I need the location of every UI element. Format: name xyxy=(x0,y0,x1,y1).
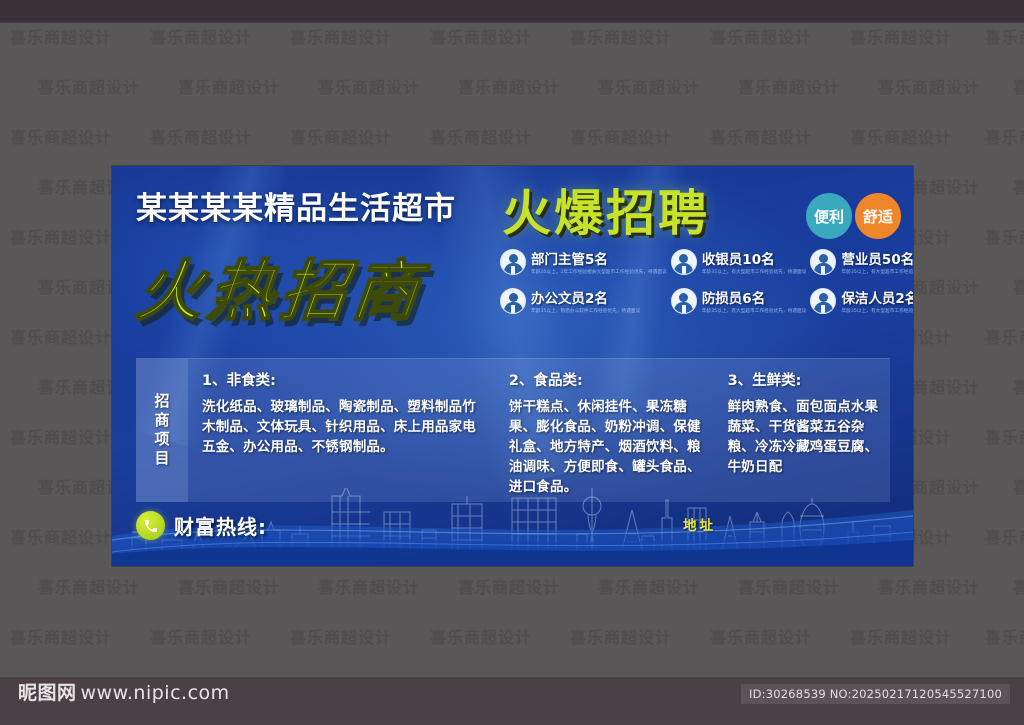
top-chrome-bar xyxy=(0,0,1024,23)
watermark-text: 喜乐商超设计 xyxy=(430,124,532,148)
watermark-text: 喜乐商超设计 xyxy=(178,574,280,598)
watermark-text: 喜乐商超设计 xyxy=(1013,174,1024,198)
job-title: 营业员50名 xyxy=(841,248,913,268)
watermark-text: 喜乐商超设计 xyxy=(458,74,560,98)
watermark-text: 喜乐商超设计 xyxy=(430,24,532,48)
watermark-text: 喜乐商超设计 xyxy=(1013,474,1024,498)
job-requirement: 年龄35以上，熟悉办公软件工作经验优先，待遇面议 xyxy=(531,308,640,314)
hotline-label: 财富热线: xyxy=(174,511,267,540)
job-requirement: 年龄35以上，有大型超市工作经验优先，待遇面议 xyxy=(841,269,913,275)
shop-name-title: 某某某某精品生活超市 xyxy=(136,183,456,228)
watermark-text: 喜乐商超设计 xyxy=(985,424,1024,448)
watermark-text: 喜乐商超设计 xyxy=(710,24,812,48)
job-title: 收银员10名 xyxy=(702,248,807,268)
watermark-text: 喜乐商超设计 xyxy=(38,74,140,98)
job-item: 部门主管5名 年龄35以上，2年工作经验相关大型超市工作经验优先，待遇面议 xyxy=(500,248,667,275)
watermark-text: 喜乐商超设计 xyxy=(878,74,980,98)
site-brand-url: www.nipic.com xyxy=(81,682,230,704)
watermark-text: 喜乐商超设计 xyxy=(1013,574,1024,598)
watermark-text: 喜乐商超设计 xyxy=(985,124,1024,148)
watermark-text: 喜乐商超设计 xyxy=(318,74,420,98)
category-body: 鲜肉熟食、面包面点水果蔬菜、干货酱菜五谷杂粮、冷冻冷藏鸡蛋豆腐、牛奶日配 xyxy=(728,398,882,478)
asset-id-badge: ID:30268539 NO:20250217120545527100 xyxy=(741,684,1010,704)
watermark-text: 喜乐商超设计 xyxy=(878,574,980,598)
categories-panel: 招商项目 1、非食类: 洗化纸品、玻璃制品、陶瓷制品、塑料制品竹木制品、文体玩具… xyxy=(136,358,890,502)
job-requirement: 年龄35以上，2年工作经验相关大型超市工作经验优先，待遇面议 xyxy=(531,269,667,275)
watermark-text: 喜乐商超设计 xyxy=(570,124,672,148)
watermark-text: 喜乐商超设计 xyxy=(570,624,672,648)
watermark-text: 喜乐商超设计 xyxy=(710,624,812,648)
watermark-text: 喜乐商超设计 xyxy=(38,574,140,598)
poster-canvas: 某某某某精品生活超市 火爆招聘 便利 舒适 火热招商 部门主管5名 年龄35以上… xyxy=(112,166,913,566)
watermark-text: 喜乐商超设计 xyxy=(10,524,112,548)
category-column-nonfood: 1、非食类: 洗化纸品、玻璃制品、陶瓷制品、塑料制品竹木制品、文体玩具、针织用品… xyxy=(188,359,495,502)
watermark-text: 喜乐商超设计 xyxy=(290,124,392,148)
watermark-text: 喜乐商超设计 xyxy=(150,124,252,148)
job-item: 营业员50名 年龄35以上，有大型超市工作经验优先，待遇面议 xyxy=(810,248,913,275)
watermark-text: 喜乐商超设计 xyxy=(10,24,112,48)
category-body: 洗化纸品、玻璃制品、陶瓷制品、塑料制品竹木制品、文体玩具、针织用品、床上用品家电… xyxy=(202,398,487,458)
art-headline-zhaoshang: 火热招商 xyxy=(132,238,430,334)
watermark-text: 喜乐商超设计 xyxy=(458,574,560,598)
watermark-text: 喜乐商超设计 xyxy=(1013,74,1024,98)
watermark-text: 喜乐商超设计 xyxy=(290,24,392,48)
watermark-text: 喜乐商超设计 xyxy=(985,524,1024,548)
category-body: 饼干糕点、休闲挂件、果冻糖果、膨化食品、奶粉冲调、保健礼盒、地方特产、烟酒饮料、… xyxy=(509,398,706,498)
category-column-fresh: 3、生鲜类: 鲜肉熟食、面包面点水果蔬菜、干货酱菜五谷杂粮、冷冻冷藏鸡蛋豆腐、牛… xyxy=(714,359,890,502)
badge-comfortable: 舒适 xyxy=(855,193,901,239)
watermark-text: 喜乐商超设计 xyxy=(10,124,112,148)
job-item: 防损员6名 年龄35以上，有大型超市工作经验优先，待遇面议 xyxy=(671,287,807,314)
watermark-text: 喜乐商超设计 xyxy=(850,124,952,148)
watermark-text: 喜乐商超设计 xyxy=(10,324,112,348)
watermark-text: 喜乐商超设计 xyxy=(1013,274,1024,298)
feature-badges: 便利 舒适 xyxy=(806,193,901,239)
site-brand: 昵图网www.nipic.com xyxy=(18,678,230,705)
job-item: 保洁人员2名 年龄35以上，有大型超市工作经验优先，待遇面议 xyxy=(810,287,913,314)
person-icon xyxy=(810,288,836,314)
job-requirement: 年龄35以上，有大型超市工作经验优先，待遇面议 xyxy=(702,308,807,314)
category-heading: 3、生鲜类: xyxy=(728,369,882,390)
watermark-text: 喜乐商超设计 xyxy=(598,574,700,598)
watermark-text: 喜乐商超设计 xyxy=(850,624,952,648)
watermark-text: 喜乐商超设计 xyxy=(10,624,112,648)
job-title: 保洁人员2名 xyxy=(841,287,913,307)
person-icon xyxy=(671,249,697,275)
watermark-text: 喜乐商超设计 xyxy=(738,574,840,598)
phone-icon xyxy=(136,511,165,540)
category-column-food: 2、食品类: 饼干糕点、休闲挂件、果冻糖果、膨化食品、奶粉冲调、保健礼盒、地方特… xyxy=(495,359,714,502)
person-icon xyxy=(810,249,836,275)
watermark-text: 喜乐商超设计 xyxy=(850,24,952,48)
person-icon xyxy=(500,288,526,314)
watermark-text: 喜乐商超设计 xyxy=(570,24,672,48)
site-brand-cn: 昵图网 xyxy=(18,682,77,704)
watermark-text: 喜乐商超设计 xyxy=(10,424,112,448)
watermark-text: 喜乐商超设计 xyxy=(178,74,280,98)
job-title: 防损员6名 xyxy=(702,287,807,307)
person-icon xyxy=(500,249,526,275)
category-heading: 2、食品类: xyxy=(509,369,706,390)
person-icon xyxy=(671,288,697,314)
job-requirement: 年龄35以上，有大型超市工作经验优先，待遇面议 xyxy=(841,308,913,314)
watermark-text: 喜乐商超设计 xyxy=(318,574,420,598)
category-heading: 1、非食类: xyxy=(202,369,487,390)
hiring-headline: 火爆招聘 xyxy=(502,174,710,245)
watermark-text: 喜乐商超设计 xyxy=(10,224,112,248)
watermark-text: 喜乐商超设计 xyxy=(430,624,532,648)
job-requirement: 年龄35以上，有大型超市工作经验优先，待遇面议 xyxy=(702,269,807,275)
job-title: 部门主管5名 xyxy=(531,248,667,268)
watermark-text: 喜乐商超设计 xyxy=(985,624,1024,648)
watermark-text: 喜乐商超设计 xyxy=(738,74,840,98)
job-list: 部门主管5名 年龄35以上，2年工作经验相关大型超市工作经验优先，待遇面议 收银… xyxy=(500,248,900,314)
watermark-text: 喜乐商超设计 xyxy=(290,624,392,648)
hotline-block: 财富热线: xyxy=(136,511,267,540)
watermark-text: 喜乐商超设计 xyxy=(985,24,1024,48)
watermark-text: 喜乐商超设计 xyxy=(598,74,700,98)
address-label: 地址 xyxy=(683,514,716,534)
watermark-text: 喜乐商超设计 xyxy=(985,324,1024,348)
panel-vertical-label-text: 招商项目 xyxy=(152,393,173,469)
badge-convenient: 便利 xyxy=(806,193,852,239)
job-title: 办公文员2名 xyxy=(531,287,640,307)
job-item: 收银员10名 年龄35以上，有大型超市工作经验优先，待遇面议 xyxy=(671,248,807,275)
watermark-text: 喜乐商超设计 xyxy=(150,24,252,48)
watermark-text: 喜乐商超设计 xyxy=(985,224,1024,248)
panel-vertical-label: 招商项目 xyxy=(136,359,188,502)
watermark-text: 喜乐商超设计 xyxy=(710,124,812,148)
job-item: 办公文员2名 年龄35以上，熟悉办公软件工作经验优先，待遇面议 xyxy=(500,287,667,314)
watermark-text: 喜乐商超设计 xyxy=(1013,374,1024,398)
watermark-text: 喜乐商超设计 xyxy=(150,624,252,648)
